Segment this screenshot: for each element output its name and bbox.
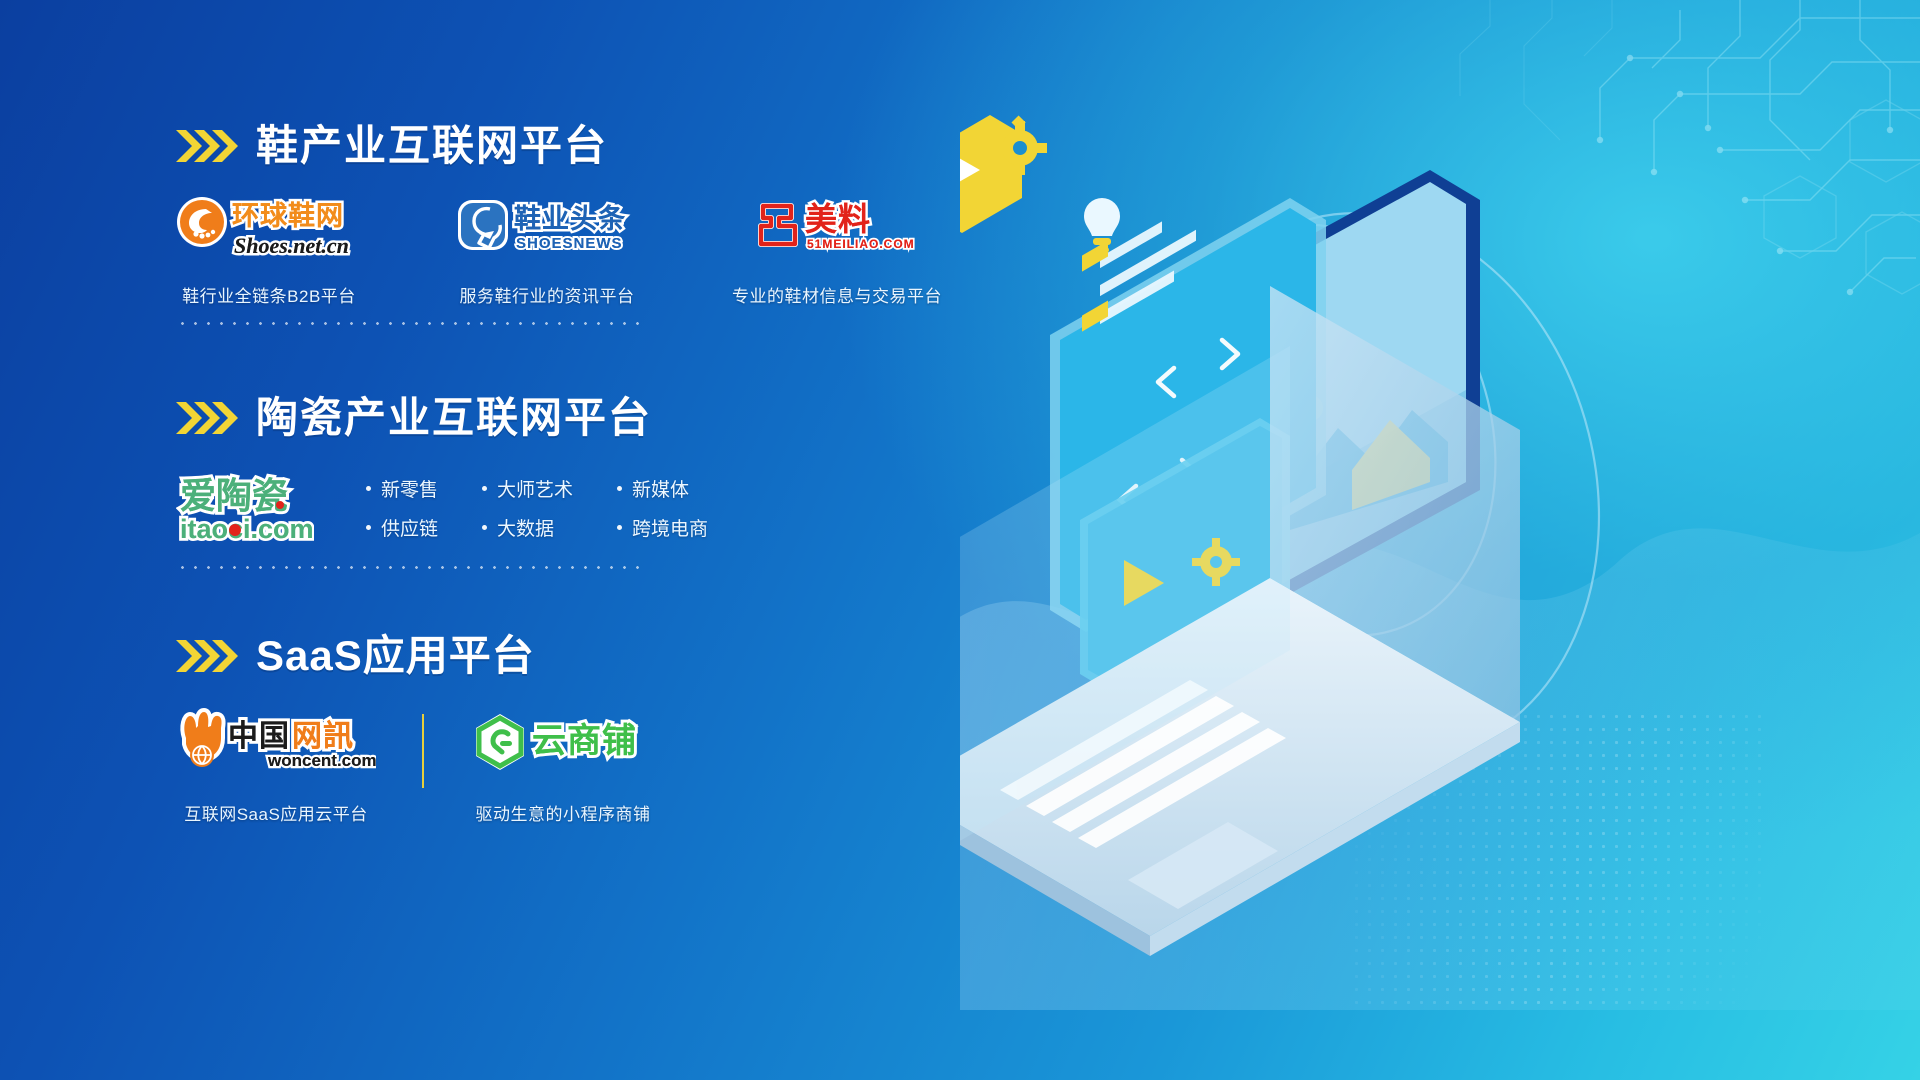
logo-meiliao: 美料 美料 51MEILIAO.COM 51MEILIAO.COM (751, 198, 923, 260)
section-heading-saas: SaaS应用平台 (0, 628, 940, 684)
logo-caption: 驱动生意的小程序商铺 (476, 800, 651, 825)
divider-vertical (422, 714, 424, 788)
section-separator (176, 322, 646, 325)
logo-cell-shoesnetcn[interactable]: 环球鞋网 环球鞋网 Shoes.net.cn Shoes.net.cn 鞋行业全… (176, 198, 362, 307)
circuit-pattern-decoration (1160, 0, 1920, 420)
svg-text:网訊: 网訊 (292, 720, 354, 753)
svg-text:环球鞋网: 环球鞋网 (232, 201, 344, 231)
triple-chevron-right-icon (176, 637, 238, 675)
svg-text:爱陶瓷: 爱陶瓷 (180, 475, 288, 516)
logo-row-shoes: 环球鞋网 环球鞋网 Shoes.net.cn Shoes.net.cn 鞋行业全… (0, 198, 940, 307)
banner-stage: 鞋产业互联网平台 (0, 0, 1920, 1080)
meiliao-mark-icon: 美料 美料 51MEILIAO.COM 51MEILIAO.COM (751, 196, 923, 262)
isometric-laptop-dashboard-illustration (960, 90, 1920, 1010)
bullet-dot-icon (366, 486, 371, 491)
hand-globe-icon: 中国 中国 网訊 网訊 woncent.com woncent.com (176, 708, 376, 778)
svg-text:美料: 美料 (805, 201, 871, 237)
bullet-dot-icon (617, 525, 622, 530)
ceramic-tag[interactable]: 大师艺术 (482, 475, 573, 502)
ceramic-tag[interactable]: 新零售 (366, 475, 438, 502)
triple-chevron-right-icon (176, 127, 238, 165)
ceramic-tag-label: 供应链 (381, 514, 438, 541)
logo-cell-itaoci[interactable]: 爱陶瓷 爱陶瓷 itaoci.com itaoci.com itaoci.com (176, 472, 314, 544)
ceramic-tag-label: 跨境电商 (632, 514, 708, 541)
svg-text:云商铺: 云商铺 (532, 722, 637, 760)
svg-text:51MEILIAO.COM: 51MEILIAO.COM (807, 237, 915, 251)
logo-cell-woncent[interactable]: 中国 中国 网訊 网訊 woncent.com woncent.com 互联网S… (176, 708, 376, 825)
ceramic-tag-grid: 新零售 大师艺术 新媒体 供应链 (366, 475, 708, 541)
logo-cell-meiliao[interactable]: 美料 美料 51MEILIAO.COM 51MEILIAO.COM 专业的鞋材信… (732, 198, 942, 307)
logo-caption: 专业的鞋材信息与交易平台 (732, 282, 942, 307)
bullet-dot-icon (617, 486, 622, 491)
ceramic-tag[interactable]: 供应链 (366, 514, 438, 541)
logo-caption: 鞋行业全链条B2B平台 (182, 282, 356, 307)
section-separator (176, 566, 646, 569)
itaoci-wordmark-icon: 爱陶瓷 爱陶瓷 itaoci.com itaoci.com itaoci.com (176, 472, 314, 544)
ceramic-tag[interactable]: 新媒体 (617, 475, 708, 502)
logo-cell-yunshangpu[interactable]: 云商铺 云商铺 驱动生意的小程序商铺 (470, 708, 656, 825)
section-title-saas: SaaS应用平台 (256, 635, 535, 677)
ceramic-tag-label: 大师艺术 (497, 475, 573, 502)
bullet-dot-icon (366, 525, 371, 530)
shoe-app-icon: 鞋业头条 鞋业头条 SHOESNEWS SHOESNEWS (454, 196, 640, 262)
svg-text:鞋业头条: 鞋业头条 (514, 204, 626, 234)
section-heading-shoes: 鞋产业互联网平台 (0, 118, 940, 174)
logo-row-saas: 中国 中国 网訊 网訊 woncent.com woncent.com 互联网S… (0, 708, 940, 825)
dot-grid-decoration (1350, 710, 1770, 1010)
globe-footprint-icon: 环球鞋网 环球鞋网 Shoes.net.cn Shoes.net.cn (176, 196, 362, 262)
logo-woncent: 中国 中国 网訊 网訊 woncent.com woncent.com (176, 708, 376, 778)
section-title-ceramic: 陶瓷产业互联网平台 (256, 397, 652, 439)
ceramic-tag-label: 新媒体 (632, 475, 689, 502)
logo-cell-shoesnews[interactable]: 鞋业头条 鞋业头条 SHOESNEWS SHOESNEWS 服务鞋行业的资讯平台 (454, 198, 640, 307)
logo-globe-footprint: 环球鞋网 环球鞋网 Shoes.net.cn Shoes.net.cn (176, 198, 362, 260)
logo-caption: 互联网SaaS应用云平台 (184, 800, 368, 825)
cloud-shop-hex-icon: 云商铺 云商铺 (470, 708, 656, 778)
logo-caption: 服务鞋行业的资讯平台 (460, 282, 635, 307)
content-column: 鞋产业互联网平台 (0, 0, 940, 1080)
section-title-shoes: 鞋产业互联网平台 (256, 125, 608, 167)
section-shoes: 鞋产业互联网平台 (0, 118, 940, 307)
logo-shoesnews: 鞋业头条 鞋业头条 SHOESNEWS SHOESNEWS (454, 198, 640, 260)
ceramic-tag-label: 新零售 (381, 475, 438, 502)
bullet-dot-icon (482, 525, 487, 530)
section-saas: SaaS应用平台 (0, 628, 940, 825)
ceramic-tag[interactable]: 大数据 (482, 514, 573, 541)
svg-text:中国: 中国 (228, 720, 290, 753)
ceramic-body: 爱陶瓷 爱陶瓷 itaoci.com itaoci.com itaoci.com (0, 472, 940, 544)
svg-text:SHOESNEWS: SHOESNEWS (516, 235, 623, 252)
ceramic-tag-label: 大数据 (497, 514, 554, 541)
logo-yunshangpu: 云商铺 云商铺 (470, 708, 656, 778)
logo-itaoci: 爱陶瓷 爱陶瓷 itaoci.com itaoci.com itaoci.com (176, 472, 314, 544)
section-ceramic: 陶瓷产业互联网平台 爱陶瓷 爱陶瓷 itaoci.com itaoci.com … (0, 390, 940, 544)
bullet-dot-icon (482, 486, 487, 491)
svg-text:woncent.com: woncent.com (267, 751, 376, 770)
svg-text:Shoes.net.cn: Shoes.net.cn (234, 233, 349, 258)
ceramic-tag[interactable]: 跨境电商 (617, 514, 708, 541)
triple-chevron-right-icon (176, 399, 238, 437)
section-heading-ceramic: 陶瓷产业互联网平台 (0, 390, 940, 446)
